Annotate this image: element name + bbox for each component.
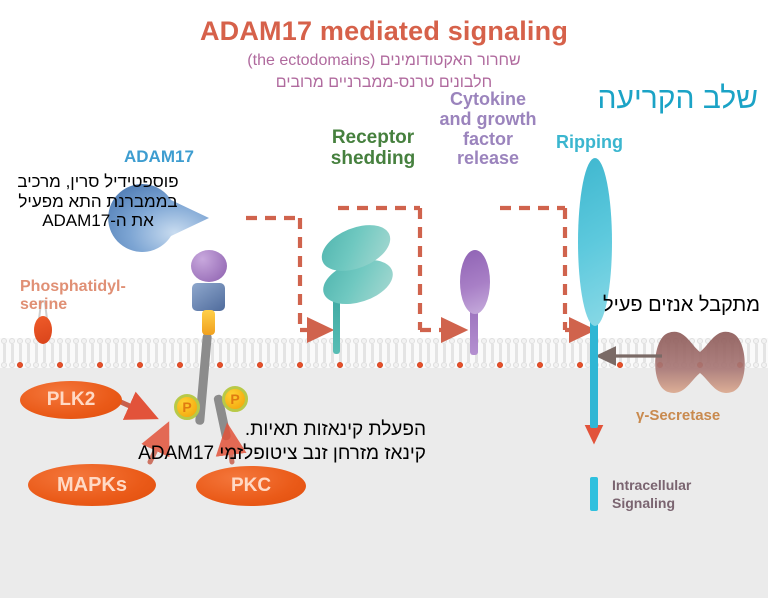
lipid-molecule [544,353,552,368]
lipid-molecule [304,353,312,368]
lipid-molecule [488,353,496,368]
lipid-molecule [352,338,360,353]
lipid-molecule [416,338,424,353]
diagram-title: ADAM17 mediated signaling [0,16,768,47]
lipid-molecule [608,353,616,368]
lipid-molecule [552,353,560,368]
lipid-molecule [56,353,64,368]
lipid-molecule [256,338,264,353]
lipid-molecule [656,353,664,368]
lipid-molecule [288,338,296,353]
lipid-molecule [72,338,80,353]
adam17-cysteine-rich-domain [192,283,225,311]
lipid-molecule [224,353,232,368]
lipid-molecule [624,338,632,353]
gamma-secretase-label: γ-Secretase [636,408,720,425]
lipid-molecule [688,338,696,353]
lipid-molecule [528,353,536,368]
lipid-molecule [640,353,648,368]
lipid-molecule [416,353,424,368]
hebrew-kinase-line-2: קינאז מזרחן זנב ציטופלזמי ADAM17 [96,442,426,466]
lipid-molecule [232,353,240,368]
lipid-molecule [176,353,184,368]
lipid-molecule [384,338,392,353]
lipid-molecule [136,353,144,368]
lipid-molecule [24,353,32,368]
lipid-molecule [400,353,408,368]
lipid-molecule [112,353,120,368]
lipid-molecule [448,353,456,368]
lipid-molecule [376,353,384,368]
lipid-molecule [568,338,576,353]
lipid-molecule [480,353,488,368]
lipid-molecule [712,353,720,368]
phosphatidylserine-label-line2: serine [20,296,126,314]
phospho-site: P [174,394,200,420]
lipid-molecule [280,338,288,353]
lipid-molecule [104,338,112,353]
hebrew-kinase-activation-note: הפעלת קינאזות תאיות. קינאז מזרחן זנב ציט… [96,418,426,467]
lipid-molecule [96,338,104,353]
lipid-molecule [576,353,584,368]
lipid-molecule [192,353,200,368]
lipid-molecule [680,338,688,353]
lipid-molecule [216,338,224,353]
lipid-molecule [632,353,640,368]
subtitle-line-1: שחרור האקטודומינים (the ectodomains) [0,52,768,70]
lipid-molecule [712,338,720,353]
lipid-molecule [120,338,128,353]
lipid-molecule [240,338,248,353]
lipid-molecule [184,338,192,353]
lipid-molecule [704,353,712,368]
lipid-molecule [480,338,488,353]
lipid-molecule [320,338,328,353]
receptor-shedding-label: Receptor shedding [318,128,428,170]
lipid-molecule [616,353,624,368]
lipid-molecule [496,338,504,353]
lipid-molecule [296,353,304,368]
lipid-molecule [440,338,448,353]
lipid-molecule [144,353,152,368]
phosphatidylserine-label: Phosphatidyl- serine [20,278,126,313]
lipid-molecule [104,353,112,368]
lipid-molecule [616,338,624,353]
adam17-disintegrin-domain [191,250,227,282]
lipid-molecule [760,353,768,368]
lipid-molecule [56,338,64,353]
lipid-molecule [88,338,96,353]
lipid-molecule [760,338,768,353]
lipid-molecule [136,338,144,353]
membrane-inner-leaflet [0,353,768,368]
lipid-molecule [24,338,32,353]
intracellular-line1: Intracellular [612,477,691,495]
lipid-molecule [640,338,648,353]
lipid-molecule [160,353,168,368]
lipid-molecule [600,338,608,353]
lipid-molecule [352,353,360,368]
lipid-molecule [656,338,664,353]
lipid-molecule [160,338,168,353]
lipid-molecule [40,353,48,368]
lipid-molecule [672,338,680,353]
lipid-molecule [408,353,416,368]
lipid-molecule [232,338,240,353]
lipid-molecule [240,353,248,368]
lipid-molecule [504,353,512,368]
lipid-molecule [560,353,568,368]
receptor-shedding-line2: shedding [318,149,428,170]
lipid-molecule [376,338,384,353]
lipid-molecule [384,353,392,368]
lipid-molecule [448,338,456,353]
receptor-shedding-line1: Receptor [318,128,428,149]
intracellular-signaling-bar [590,477,598,511]
lipid-molecule [368,353,376,368]
lipid-molecule [672,353,680,368]
lipid-molecule [552,338,560,353]
lipid-molecule [488,338,496,353]
lipid-molecule [280,353,288,368]
lipid-molecule [112,338,120,353]
lipid-molecule [248,338,256,353]
lipid-molecule [720,353,728,368]
lipid-molecule [360,353,368,368]
lipid-molecule [344,338,352,353]
kinase-mapks: MAPKs [28,464,156,506]
lipid-molecule [424,353,432,368]
lipid-molecule [520,353,528,368]
adam17-label: ADAM17 [124,148,194,167]
lipid-molecule [504,338,512,353]
lipid-molecule [648,353,656,368]
ripping-label: Ripping [556,133,623,153]
lipid-molecule [696,338,704,353]
lipid-molecule [168,338,176,353]
adam17-transmembrane-domain [202,310,215,335]
lipid-molecule [80,353,88,368]
lipid-molecule [216,353,224,368]
lipid-molecule [312,353,320,368]
lipid-molecule [0,338,8,353]
lipid-molecule [88,353,96,368]
phospho-site: P [222,386,248,412]
lipid-molecule [16,353,24,368]
lipid-molecule [752,338,760,353]
lipid-molecule [728,338,736,353]
lipid-molecule [264,353,272,368]
lipid-molecule [536,338,544,353]
lipid-molecule [464,353,472,368]
hebrew-kinase-line-1: הפעלת קינאזות תאיות. [96,418,426,442]
cytokine-line3: factor [432,130,544,150]
lipid-molecule [512,353,520,368]
phosphatidylserine-label-line1: Phosphatidyl- [20,278,126,296]
lipid-molecule [272,338,280,353]
lipid-molecule [608,338,616,353]
lipid-molecule [736,353,744,368]
lipid-molecule [152,353,160,368]
lipid-molecule [688,353,696,368]
lipid-molecule [400,338,408,353]
intracellular-line2: Signaling [612,495,691,513]
lipid-molecule [456,338,464,353]
lipid-molecule [8,338,16,353]
lipid-molecule [312,338,320,353]
lipid-molecule [328,353,336,368]
lipid-molecule [16,338,24,353]
lipid-molecule [248,353,256,368]
lipid-molecule [128,353,136,368]
lipid-molecule [472,353,480,368]
lipid-molecule [720,338,728,353]
lipid-molecule [272,353,280,368]
lipid-molecule [64,353,72,368]
cytokine-line2: and growth [432,110,544,130]
lipid-molecule [392,338,400,353]
kinase-plk2: PLK2 [20,381,122,419]
lipid-molecule [704,338,712,353]
lipid-molecule [168,353,176,368]
lipid-molecule [368,338,376,353]
lipid-molecule [736,338,744,353]
lipid-molecule [304,338,312,353]
lipid-molecule [440,353,448,368]
lipid-molecule [256,353,264,368]
lipid-molecule [336,353,344,368]
lipid-molecule [296,338,304,353]
lipid-molecule [528,338,536,353]
diagram-canvas: P P PLK2 MAPKs PKC ADAM17 mediated signa… [0,0,768,598]
lipid-molecule [456,353,464,368]
lipid-molecule [624,353,632,368]
lipid-molecule [72,353,80,368]
lipid-molecule [696,353,704,368]
lipid-molecule [568,353,576,368]
lipid-molecule [512,338,520,353]
lipid-molecule [344,353,352,368]
lipid-molecule [728,353,736,368]
lipid-molecule [152,338,160,353]
lipid-molecule [648,338,656,353]
lipid-head [34,316,52,344]
lipid-molecule [8,353,16,368]
plasma-membrane [0,338,768,368]
cytokine-ectodomain [460,250,490,314]
lipid-molecule [64,338,72,353]
lipid-molecule [536,353,544,368]
lipid-molecule [680,353,688,368]
lipid-molecule [392,353,400,368]
lipid-molecule [224,338,232,353]
lipid-molecule [576,338,584,353]
lipid-molecule [192,338,200,353]
lipid-molecule [664,338,672,353]
lipid-molecule [544,338,552,353]
membrane-outer-leaflet [0,338,768,353]
lipid-molecule [80,338,88,353]
lipid-molecule [360,338,368,353]
lipid-molecule [96,353,104,368]
lipid-molecule [664,353,672,368]
lipid-molecule [288,353,296,368]
lipid-molecule [144,338,152,353]
lipid-molecule [128,338,136,353]
intracellular-signaling-label: Intracellular Signaling [612,477,691,512]
lipid-molecule [48,353,56,368]
hebrew-active-enzyme-label: מתקבל אנזים פעיל [603,294,760,317]
lipid-molecule [744,338,752,353]
lipid-molecule [184,353,192,368]
lipid-molecule [632,338,640,353]
lipid-molecule [176,338,184,353]
lipid-molecule [408,338,416,353]
lipid-molecule [120,353,128,368]
lipid-molecule [496,353,504,368]
lipid-molecule [32,353,40,368]
lipid-molecule [744,353,752,368]
lipid-molecule [600,353,608,368]
hebrew-phosphatidylserine-note: פוספטידיל סרין, מרכיב בממברנת התא מפעיל … [8,172,188,231]
cytokine-line1: Cytokine [432,90,544,110]
lipid-molecule [424,338,432,353]
lipid-molecule [432,353,440,368]
lipid-molecule [0,353,8,368]
kinase-pkc: PKC [196,466,306,506]
hebrew-stage-of-cleavage-label: שלב הקריעה [598,82,758,116]
lipid-molecule [320,353,328,368]
lipid-molecule [560,338,568,353]
lipid-molecule [264,338,272,353]
lipid-molecule [520,338,528,353]
lipid-molecule [752,353,760,368]
cytokine-release-label: Cytokine and growth factor release [432,90,544,169]
lipid-molecule [432,338,440,353]
cytokine-line4: release [432,149,544,169]
